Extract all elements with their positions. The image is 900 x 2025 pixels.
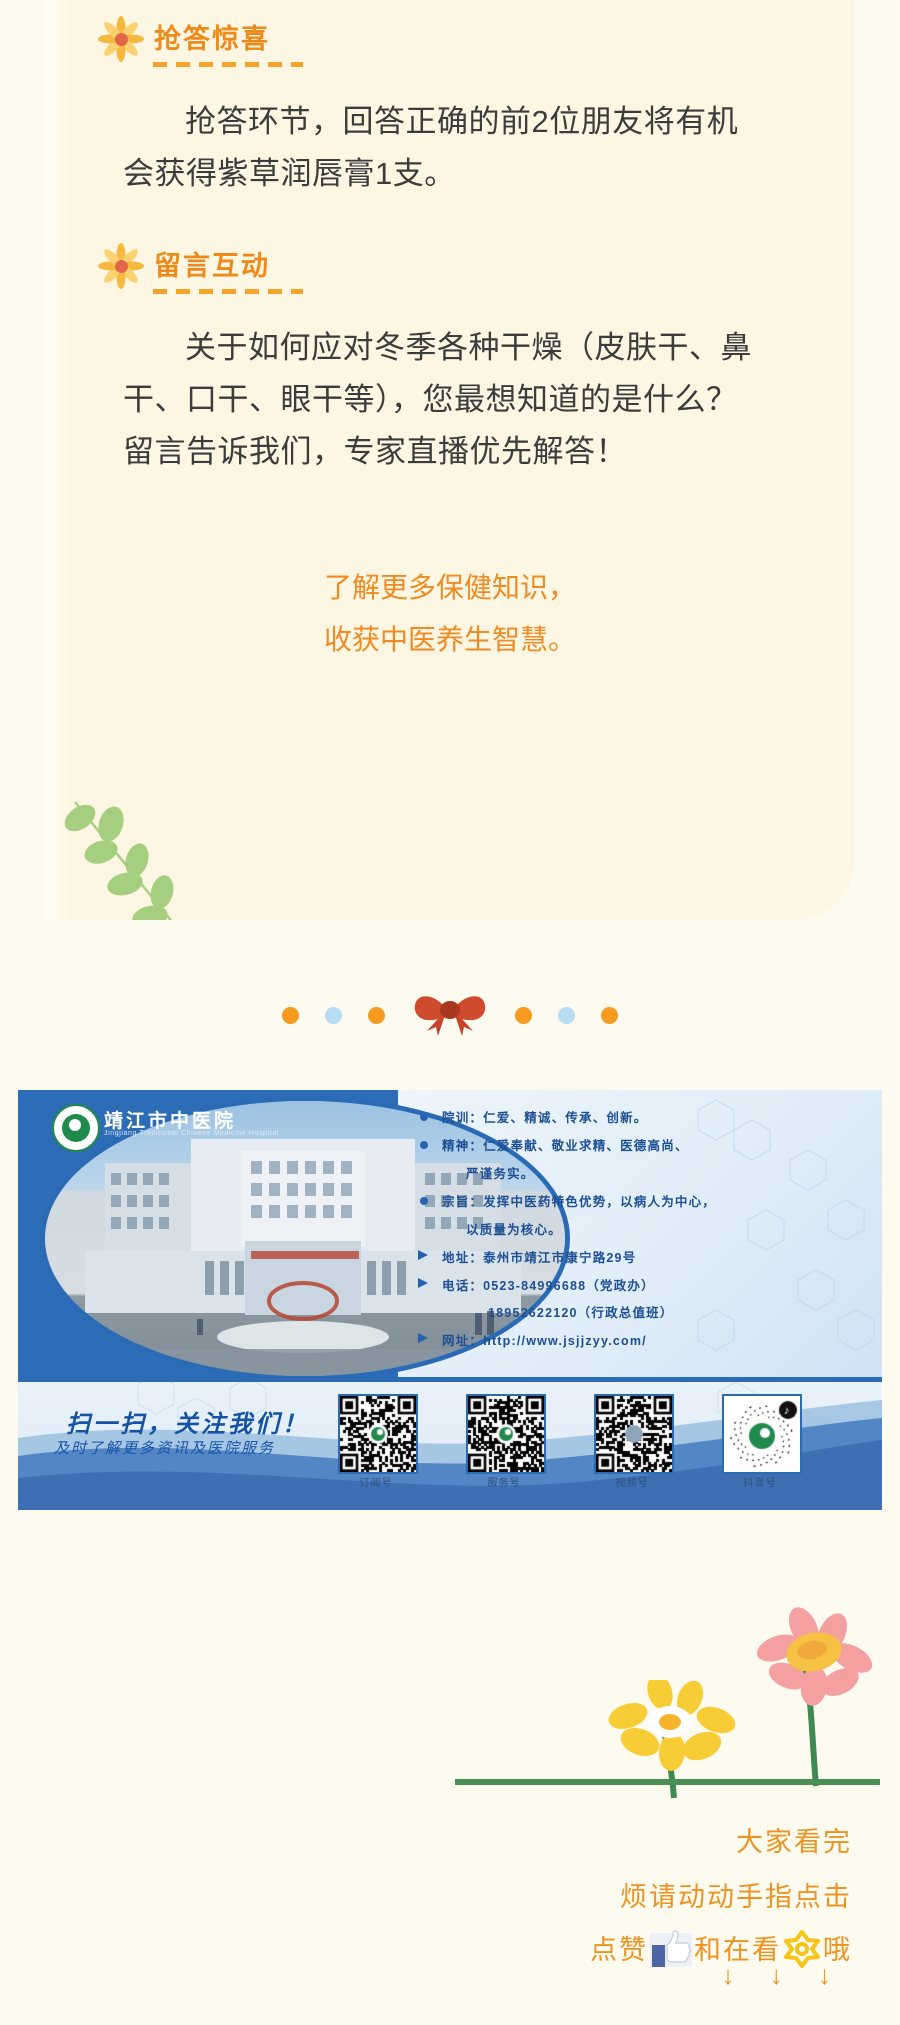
divider-dot-orange	[368, 1007, 385, 1024]
info-arrow-icon	[418, 1278, 428, 1288]
leaf-branch-decoration	[59, 780, 199, 920]
section-header-1: 抢答惊喜	[100, 18, 270, 60]
info-arrow-icon	[418, 1250, 428, 1260]
info-bullet-icon	[420, 1141, 428, 1149]
section-body-1-text: 抢答环节，回答正确的前2位朋友将有机会获得紫草润唇膏1支。	[123, 104, 738, 191]
divider-dot-orange	[601, 1007, 618, 1024]
footer-line-1: 大家看完	[736, 1820, 852, 1859]
info-line-4: 以质量为核心。	[466, 1219, 562, 1238]
page-root: 抢答惊喜 抢答环节，回答正确的前2位朋友将有机会获得紫草润唇膏1支。 留言互动 …	[0, 0, 900, 2025]
footer-line-2: 烦请动动手指点击	[620, 1875, 852, 1914]
qr-code-service[interactable]	[466, 1394, 546, 1474]
thumbs-up-icon[interactable]	[648, 1929, 694, 1969]
info-line-6: 电话：0523-84996688（党政办）	[442, 1275, 655, 1294]
section-underline-1	[153, 62, 303, 67]
qr-label-2: 视频号	[584, 1474, 680, 1489]
section-underline-2	[153, 289, 303, 294]
footer-arrows: ↓ ↓ ↓	[722, 1960, 845, 1991]
divider-dot-blue	[325, 1007, 342, 1024]
info-line-5: 地址：泰州市靖江市康宁路29号	[442, 1247, 636, 1266]
section-header-2: 留言互动	[100, 245, 270, 287]
qr-code-subscription[interactable]	[338, 1394, 418, 1474]
hospital-banner-card: 靖江市中医院 Jingjiang Traditional Chinese Med…	[18, 1090, 882, 1510]
content-card: 抢答惊喜 抢答环节，回答正确的前2位朋友将有机会获得紫草润唇膏1支。 留言互动 …	[45, 0, 855, 920]
cta-line-1: 了解更多保健知识，	[240, 562, 660, 614]
hospital-banner-top: 靖江市中医院 Jingjiang Traditional Chinese Med…	[18, 1090, 882, 1377]
info-line-7: 18952622120（行政总值班）	[488, 1302, 674, 1321]
footer-like-prefix: 点赞	[590, 1935, 648, 1965]
bow-icon	[411, 987, 489, 1043]
ground-line	[455, 1779, 880, 1785]
cta-line-2: 收获中医养生智慧。	[240, 614, 660, 666]
scan-title: 扫一扫，关注我们！	[66, 1404, 309, 1439]
divider-dot-blue	[558, 1007, 575, 1024]
qr-code-douyin[interactable]	[722, 1394, 802, 1474]
info-bullet-icon	[420, 1197, 428, 1205]
qr-label-0: 订阅号	[328, 1474, 424, 1489]
qr-label-1: 服务号	[456, 1474, 552, 1489]
info-bullet-icon	[420, 1113, 428, 1121]
info-arrow-icon	[418, 1333, 428, 1343]
divider-dot-orange	[282, 1007, 299, 1024]
flower-icon	[100, 18, 142, 60]
qr-strip: 扫一扫，关注我们！ 及时了解更多资讯及医院服务 订阅号 服务号 视频号 抖音号	[18, 1382, 882, 1510]
flower-decoration-yellow	[590, 1680, 760, 1805]
section-body-2-text: 关于如何应对冬季各种干燥（皮肤干、鼻干、口干、眼干等），您最想知道的是什么？留言…	[123, 330, 752, 469]
qr-label-3: 抖音号	[712, 1474, 808, 1489]
info-line-8: 网址：http://www.jsjjzyy.com/	[442, 1330, 647, 1349]
qr-code-channels[interactable]	[594, 1394, 674, 1474]
info-line-2: 严谨务实。	[466, 1163, 535, 1182]
bow-divider	[0, 985, 900, 1045]
section-title-1: 抢答惊喜	[154, 26, 270, 53]
info-line-0: 院训：仁爱、精诚、传承、创新。	[442, 1107, 648, 1126]
divider-dot-orange	[515, 1007, 532, 1024]
section-body-1: 抢答环节，回答正确的前2位朋友将有机会获得紫草润唇膏1支。	[123, 96, 763, 200]
hospital-logo-icon	[52, 1104, 100, 1152]
scan-subtitle: 及时了解更多资讯及医院服务	[54, 1437, 275, 1458]
flower-icon	[100, 245, 142, 287]
info-line-1: 精神：仁爱奉献、敬业求精、医德高尚、	[442, 1135, 689, 1154]
section-body-2: 关于如何应对冬季各种干燥（皮肤干、鼻干、口干、眼干等），您最想知道的是什么？留言…	[123, 322, 763, 478]
hospital-name-cn: 靖江市中医院	[104, 1106, 236, 1133]
section-title-2: 留言互动	[154, 253, 270, 280]
hospital-name-en: Jingjiang Traditional Chinese Medicine H…	[104, 1130, 279, 1137]
info-line-3: 宗旨：发挥中医药特色优势，以病人为中心，	[442, 1191, 716, 1210]
